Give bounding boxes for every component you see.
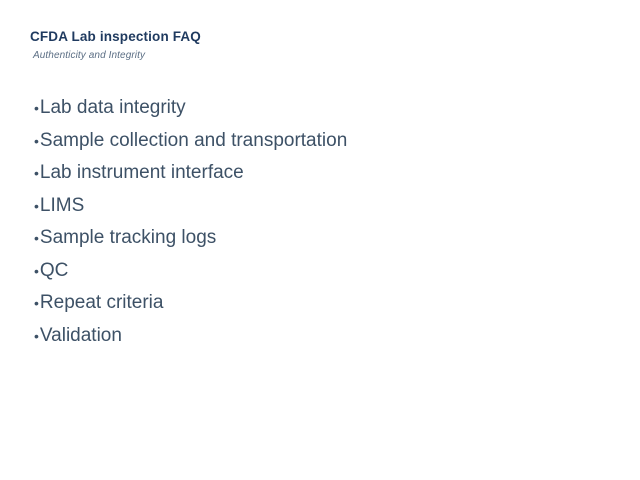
list-item: • QC — [34, 255, 624, 288]
list-item-label: Sample collection and transportation — [40, 125, 347, 158]
list-item-label: QC — [40, 255, 69, 288]
page-subtitle: Authenticity and Integrity — [33, 50, 610, 62]
list-item: • Sample collection and transportation — [34, 125, 624, 158]
page-title: CFDA Lab inspection FAQ — [30, 29, 610, 45]
list-item: • Validation — [34, 320, 624, 353]
bullet-dot-icon: • — [34, 222, 39, 255]
list-item-label: Lab data integrity — [40, 92, 186, 125]
list-item-label: Validation — [40, 320, 122, 353]
list-item: • Lab instrument interface — [34, 157, 624, 190]
bullet-dot-icon: • — [34, 157, 39, 190]
list-item-label: Repeat criteria — [40, 287, 164, 320]
list-item: • Repeat criteria — [34, 287, 624, 320]
presentation-slide: CFDA Lab inspection FAQ Authenticity and… — [0, 0, 640, 480]
bullet-dot-icon: • — [34, 287, 39, 320]
list-item-label: Lab instrument interface — [40, 157, 244, 190]
slide-header: CFDA Lab inspection FAQ Authenticity and… — [30, 29, 610, 62]
bullet-dot-icon: • — [34, 92, 39, 125]
bullet-dot-icon: • — [34, 255, 39, 288]
bullet-dot-icon: • — [34, 320, 39, 353]
bullet-dot-icon: • — [34, 125, 39, 158]
list-item: • Lab data integrity — [34, 92, 624, 125]
bullet-dot-icon: • — [34, 190, 39, 223]
list-item: • LIMS — [34, 190, 624, 223]
bullet-list: • Lab data integrity • Sample collection… — [34, 92, 624, 352]
list-item: • Sample tracking logs — [34, 222, 624, 255]
list-item-label: LIMS — [40, 190, 84, 223]
list-item-label: Sample tracking logs — [40, 222, 216, 255]
